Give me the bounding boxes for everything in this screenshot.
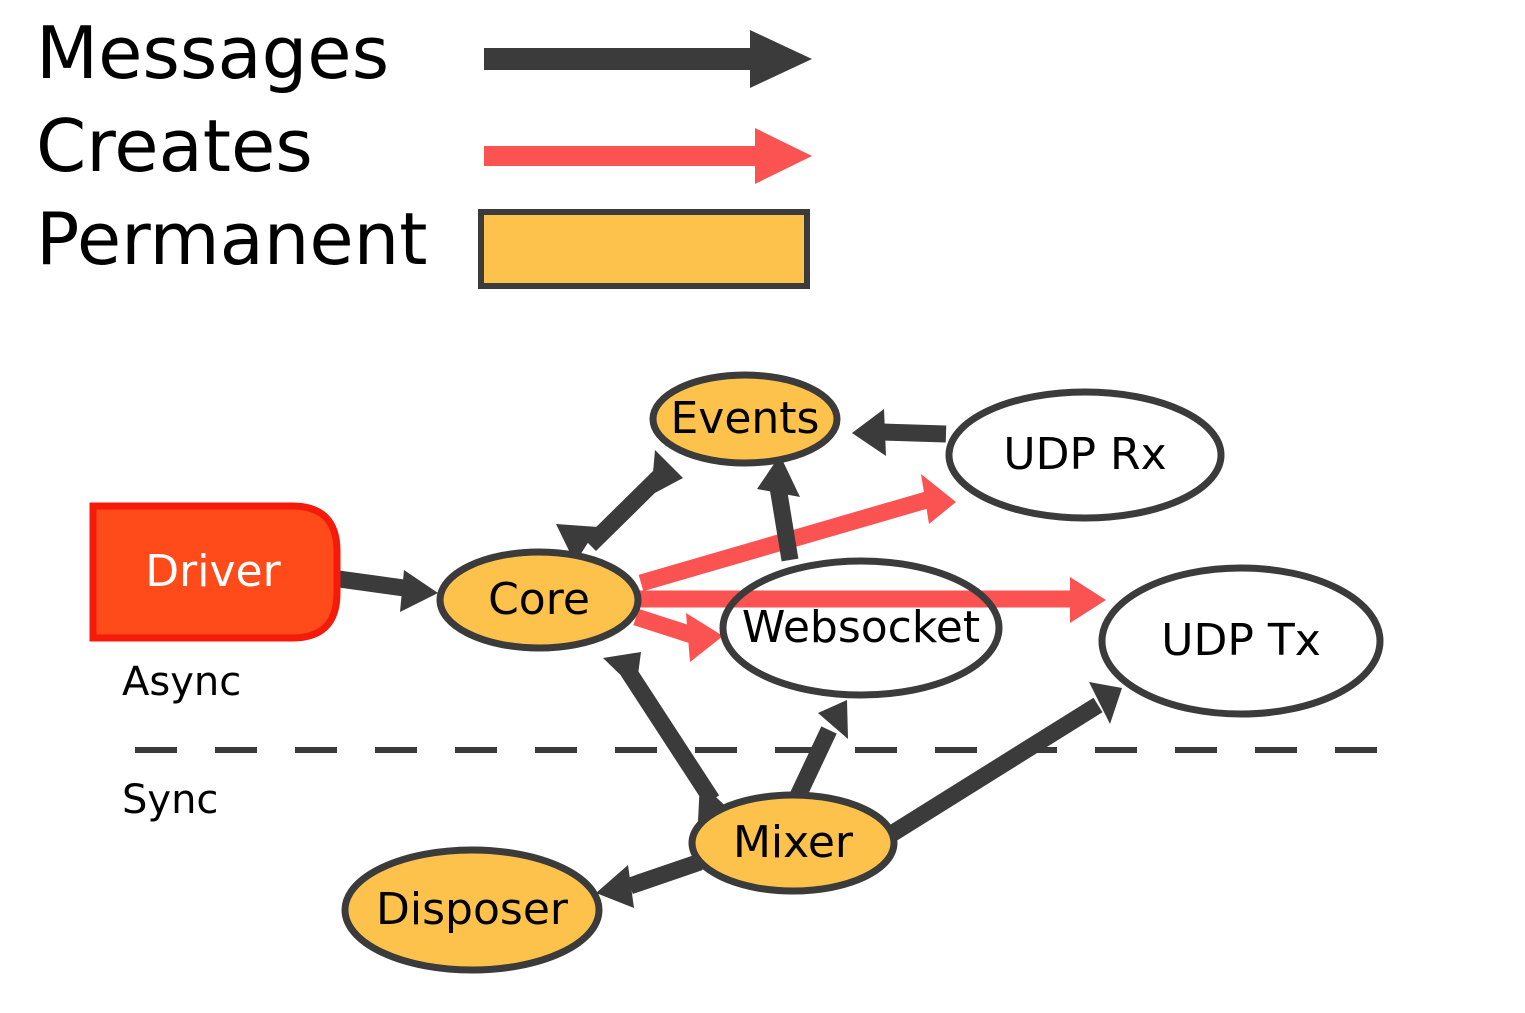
edge-driver-core <box>339 570 438 612</box>
node-mixer[interactable] <box>692 795 894 891</box>
node-websocket[interactable] <box>723 561 999 695</box>
edge-core-websocket <box>636 613 723 662</box>
node-disposer[interactable] <box>345 850 599 970</box>
legend-label-permanent: Permanent <box>36 203 428 275</box>
edge-core-events <box>556 450 683 563</box>
node-core[interactable] <box>440 552 638 648</box>
node-udprx[interactable] <box>949 392 1221 518</box>
node-events[interactable] <box>653 375 837 463</box>
edge-mixer-disposer <box>596 862 700 908</box>
legend-label-messages: Messages <box>36 17 389 89</box>
edge-core-udptx <box>637 577 1106 623</box>
phase-label-sync: Sync <box>122 780 218 820</box>
red-arrow-icon <box>484 128 812 184</box>
node-udptx[interactable] <box>1102 568 1380 714</box>
edge-mixer-udptx <box>893 682 1122 833</box>
node-driver[interactable] <box>93 506 337 638</box>
legend-label-creates: Creates <box>36 110 313 182</box>
edge-core-mixer <box>603 652 735 821</box>
dark-arrow-icon <box>484 30 812 88</box>
orange-swatch-icon <box>481 212 807 286</box>
phase-label-async: Async <box>122 662 241 702</box>
legend-group <box>481 30 812 286</box>
edge-udprx-events <box>852 409 946 456</box>
